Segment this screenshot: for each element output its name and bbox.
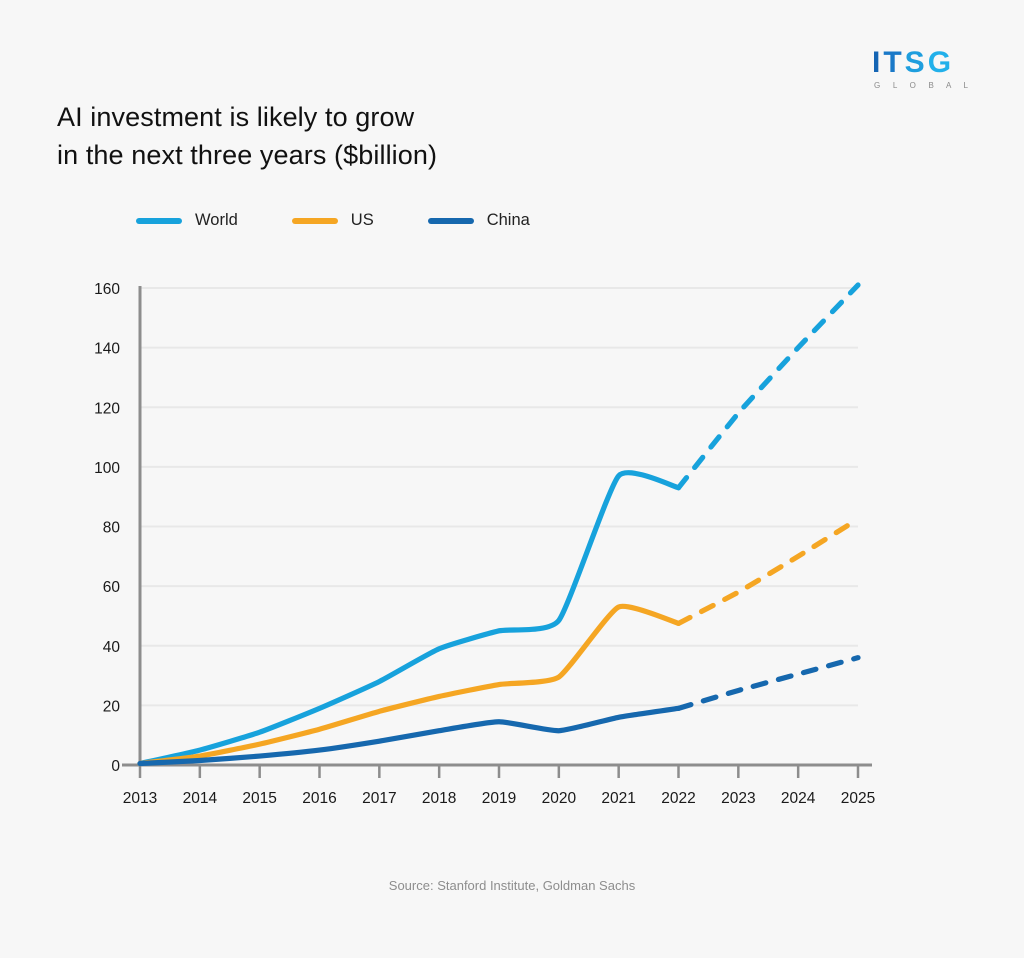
itsg-global-logo: ITSG G L O B A L (872, 48, 982, 92)
x-axis-label-2013: 2013 (123, 790, 157, 807)
y-axis-label-60: 60 (103, 579, 121, 596)
legend-item-us[interactable]: US (292, 211, 374, 230)
source-note: Source: Stanford Institute, Goldman Sach… (0, 878, 1024, 893)
x-axis-label-2019: 2019 (482, 790, 516, 807)
page-title: AI investment is likely to grow in the n… (57, 98, 677, 175)
logo-letter-i: I (872, 46, 883, 79)
series-forecast-world (679, 285, 859, 488)
logo-letter-g: G (928, 46, 954, 79)
x-axis-label-2017: 2017 (362, 790, 396, 807)
series-line-world (140, 473, 679, 764)
y-axis-label-20: 20 (103, 698, 121, 715)
series-line-us (140, 606, 679, 763)
legend-label-world: World (195, 211, 238, 230)
y-axis-label-160: 160 (94, 281, 120, 298)
legend-swatch-china (428, 218, 474, 224)
page-title-line-2: in the next three years ($billion) (57, 136, 677, 174)
series-forecast-us (679, 519, 859, 623)
legend-label-china: China (487, 211, 530, 230)
logo-letter-t: T (883, 46, 904, 79)
series-forecast-china (679, 658, 859, 709)
legend-swatch-us (292, 218, 338, 224)
series-line-china (140, 708, 679, 763)
x-axis-label-2014: 2014 (183, 790, 218, 807)
y-axis-label-140: 140 (94, 341, 120, 358)
logo-letter-s: S (905, 46, 928, 79)
page-title-line-1: AI investment is likely to grow (57, 98, 677, 136)
x-axis-label-2015: 2015 (242, 790, 276, 807)
chart-page: ITSG G L O B A L AI investment is likely… (0, 0, 1024, 958)
x-axis-label-2020: 2020 (542, 790, 577, 807)
x-axis-label-2021: 2021 (601, 790, 635, 807)
legend-label-us: US (351, 211, 374, 230)
chart-legend: WorldUSChina (136, 211, 584, 230)
x-axis-label-2022: 2022 (661, 790, 695, 807)
logo-wordmark: ITSG (872, 48, 982, 78)
x-axis-label-2023: 2023 (721, 790, 755, 807)
y-axis-label-40: 40 (103, 639, 121, 656)
x-axis-label-2016: 2016 (302, 790, 336, 807)
logo-subtitle: G L O B A L (872, 81, 982, 90)
y-axis-label-0: 0 (111, 758, 120, 775)
legend-item-world[interactable]: World (136, 211, 238, 230)
x-axis-label-2025: 2025 (841, 790, 875, 807)
legend-swatch-world (136, 218, 182, 224)
y-axis-label-80: 80 (103, 520, 121, 537)
y-axis-label-120: 120 (94, 400, 120, 417)
legend-item-china[interactable]: China (428, 211, 530, 230)
y-axis-label-100: 100 (94, 460, 120, 477)
x-axis-label-2024: 2024 (781, 790, 816, 807)
x-axis-label-2018: 2018 (422, 790, 456, 807)
